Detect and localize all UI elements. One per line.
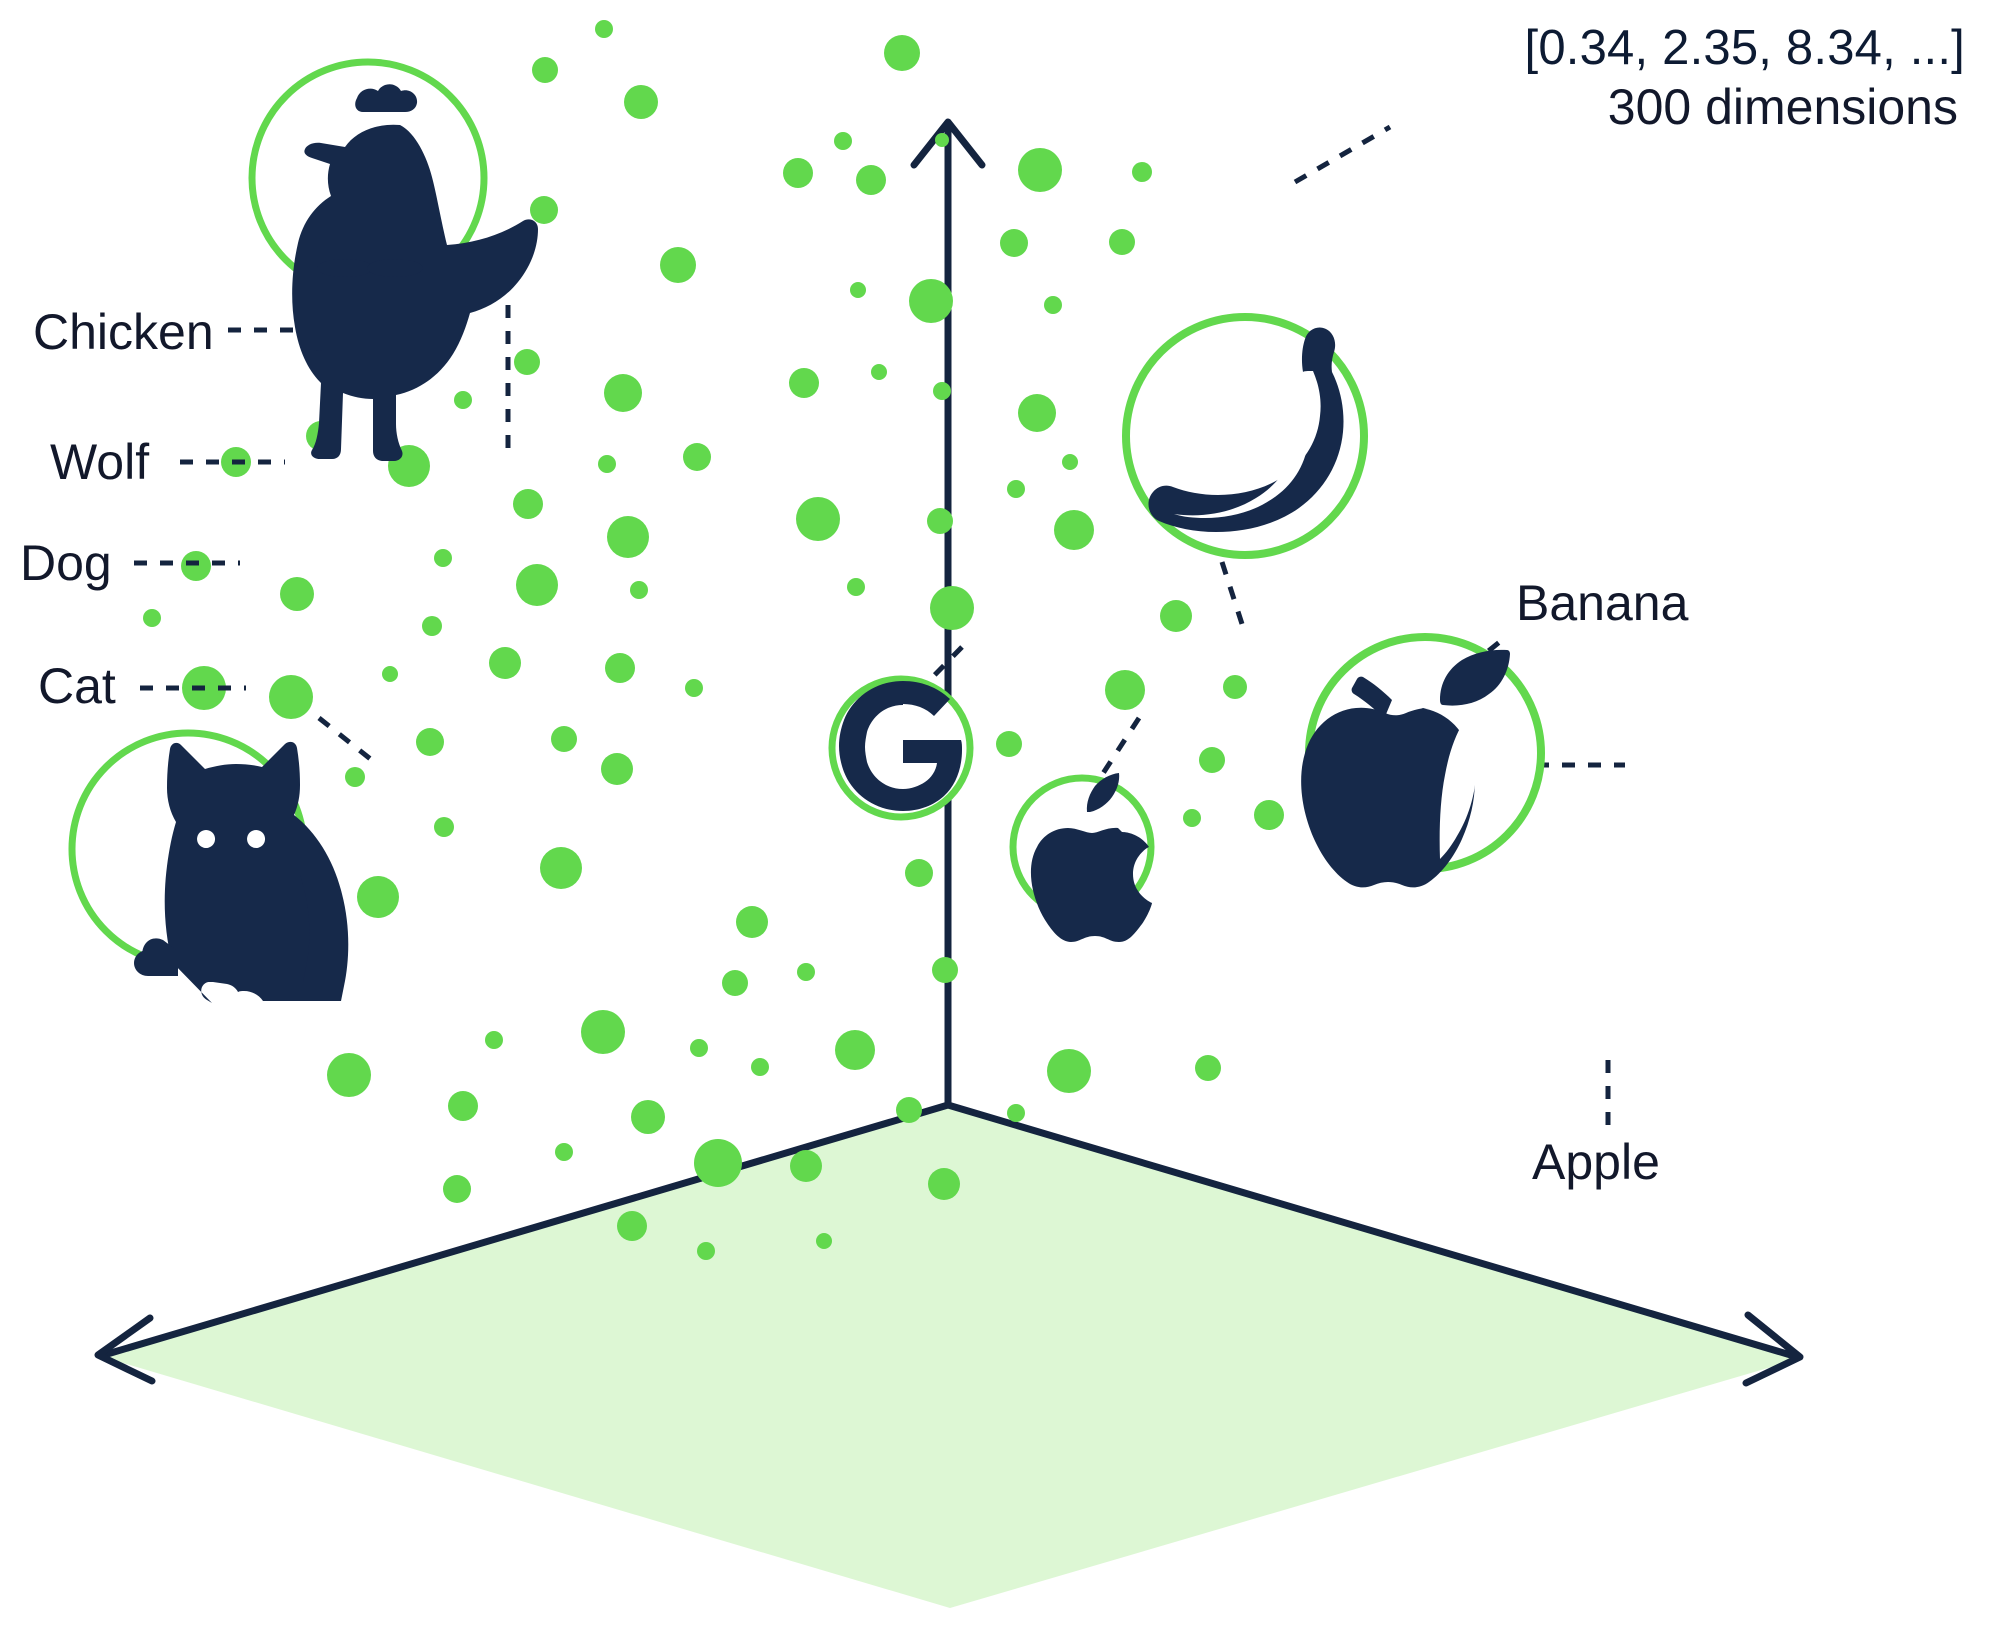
scatter-dot xyxy=(1199,747,1225,773)
scatter-dot xyxy=(697,1242,715,1260)
scatter-dot xyxy=(694,1139,742,1187)
scatter-dot xyxy=(605,653,635,683)
scatter-dot xyxy=(928,1168,960,1200)
scatter-dot xyxy=(382,666,398,682)
scatter-dot xyxy=(530,196,558,224)
scatter-dot xyxy=(1109,229,1135,255)
leader-dimensions xyxy=(1295,127,1390,182)
scatter-dot xyxy=(434,549,452,567)
scatter-dot xyxy=(722,970,748,996)
scatter-dot xyxy=(617,1211,647,1241)
scatter-dot xyxy=(357,876,399,918)
apple-fruit-badge[interactable] xyxy=(1301,637,1541,887)
scatter-dot xyxy=(835,1030,875,1070)
scatter-dot xyxy=(327,1053,371,1097)
scatter-dot xyxy=(143,609,161,627)
scatter-dot xyxy=(847,578,865,596)
google-badge[interactable] xyxy=(832,679,970,817)
leader-cat-icon xyxy=(319,718,378,765)
scatter-dot xyxy=(927,508,953,534)
label-apple: Apple xyxy=(1532,1137,1660,1187)
scatter-dot xyxy=(685,679,703,697)
scatter-dot xyxy=(280,577,314,611)
scatter-dot xyxy=(551,726,577,752)
scatter-dot xyxy=(1047,1049,1091,1093)
scatter-dot xyxy=(454,391,472,409)
label-cat: Cat xyxy=(38,661,116,711)
scatter-dot xyxy=(1160,600,1192,632)
scatter-dot xyxy=(932,957,958,983)
scatter-dot xyxy=(816,1233,832,1249)
scatter-dot xyxy=(751,1058,769,1076)
scatter-dot xyxy=(660,247,696,283)
scatter-dot xyxy=(736,906,768,938)
scatter-dot xyxy=(513,489,543,519)
scatter-dot xyxy=(1223,675,1247,699)
chicken-badge[interactable] xyxy=(252,62,538,461)
scatter-dot xyxy=(996,731,1022,757)
scatter-dot xyxy=(598,455,616,473)
scatter-dot xyxy=(1105,670,1145,710)
scatter-dot xyxy=(1007,480,1025,498)
cat-badge[interactable] xyxy=(72,733,348,1003)
scatter-dot xyxy=(834,132,852,150)
scatter-dot xyxy=(797,963,815,981)
scatter-dot xyxy=(1054,510,1094,550)
scatter-dot xyxy=(443,1175,471,1203)
scatter-dot xyxy=(1062,454,1078,470)
scatter-dot xyxy=(856,165,886,195)
scatter-dot xyxy=(850,282,866,298)
scatter-dot xyxy=(796,497,840,541)
apple-logo-badge[interactable] xyxy=(1013,773,1152,942)
scatter-dot xyxy=(690,1039,708,1057)
scatter-dot xyxy=(416,728,444,756)
scatter-dot xyxy=(269,675,313,719)
scatter-dot xyxy=(607,516,649,558)
vector-value-text: [0.34, 2.35, 8.34, ...] xyxy=(1525,18,1965,79)
scatter-dot xyxy=(422,616,442,636)
banana-badge[interactable] xyxy=(1126,317,1364,555)
scatter-dot xyxy=(601,753,633,785)
scatter-dot xyxy=(595,20,613,38)
scatter-dot xyxy=(790,1150,822,1182)
scatter-dot xyxy=(1132,162,1152,182)
scatter-dot xyxy=(909,279,953,323)
scatter-dot xyxy=(624,85,658,119)
scatter-dot xyxy=(485,1031,503,1049)
scatter-dot xyxy=(631,1100,665,1134)
label-dog: Dog xyxy=(20,538,112,588)
scatter-dot xyxy=(871,364,887,380)
dimensions-text: 300 dimensions xyxy=(1608,82,1958,132)
vector-space-illustration xyxy=(0,0,2000,1650)
scatter-dot xyxy=(630,581,648,599)
scatter-dot xyxy=(896,1097,922,1123)
scatter-dot xyxy=(181,551,211,581)
scatter-dot xyxy=(604,374,642,412)
label-chicken: Chicken xyxy=(33,307,214,357)
embedding-diagram: [0.34, 2.35, 8.34, ...] 300 dimensions C… xyxy=(0,0,2000,1650)
scatter-dot xyxy=(1018,394,1056,432)
scatter-dot xyxy=(1018,148,1062,192)
label-wolf: Wolf xyxy=(50,437,149,487)
label-banana: Banana xyxy=(1516,578,1688,628)
scatter-dot xyxy=(783,158,813,188)
scatter-dot xyxy=(1254,800,1284,830)
scatter-dot xyxy=(1044,296,1062,314)
leader-banana-icon xyxy=(1222,562,1243,627)
scatter-dot xyxy=(532,57,558,83)
scatter-dot xyxy=(581,1010,625,1054)
scatter-dot xyxy=(516,564,558,606)
scatter-dot xyxy=(434,817,454,837)
scatter-dot xyxy=(1183,809,1201,827)
scatter-dot xyxy=(489,647,521,679)
scatter-dot xyxy=(933,382,951,400)
scatter-dot xyxy=(448,1091,478,1121)
leader-apple-logo-icon xyxy=(1100,718,1139,778)
scatter-dot xyxy=(555,1143,573,1161)
scatter-dot xyxy=(1007,1104,1025,1122)
scatter-dot xyxy=(514,349,540,375)
scatter-dot xyxy=(1195,1055,1221,1081)
scatter-dot xyxy=(905,859,933,887)
scatter-dot xyxy=(935,133,949,147)
scatter-dot xyxy=(884,35,920,71)
scatter-dot xyxy=(1000,229,1028,257)
scatter-dot xyxy=(540,847,582,889)
scatter-dot xyxy=(683,443,711,471)
scatter-dot xyxy=(930,586,974,630)
scatter-dot xyxy=(789,368,819,398)
scatter-dot xyxy=(345,767,365,787)
